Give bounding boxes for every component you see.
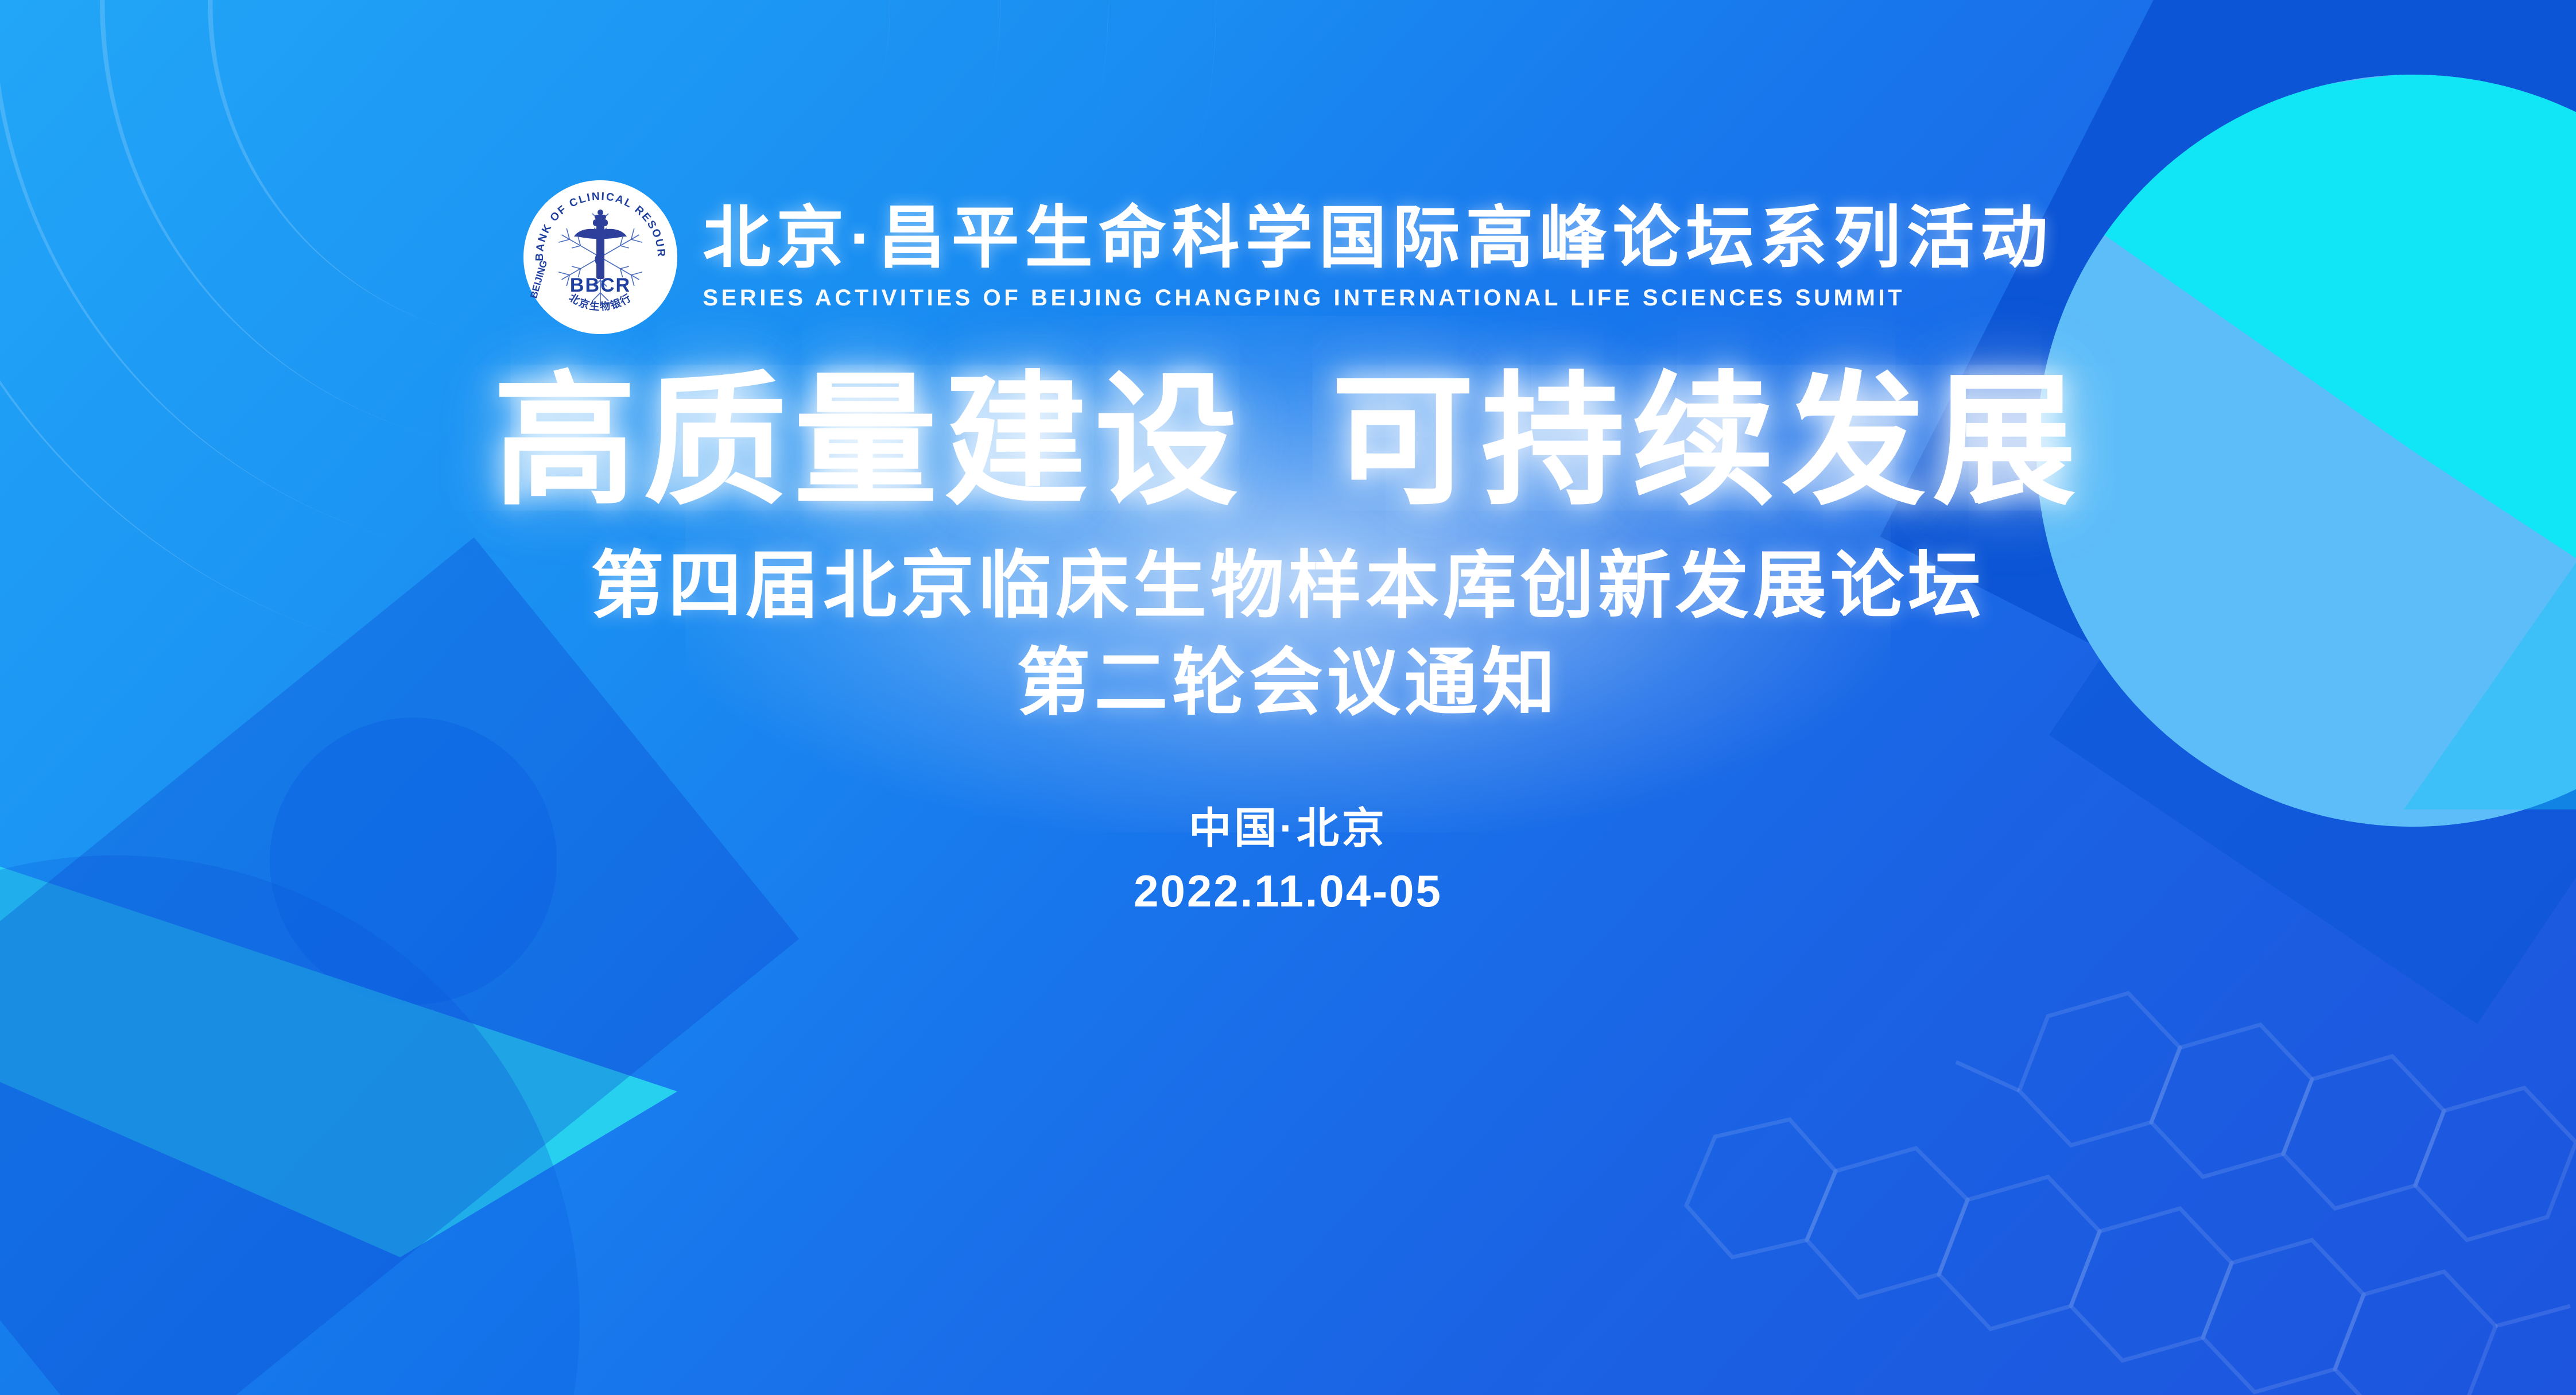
series-title-en: SERIES ACTIVITIES OF BEIJING CHANGPING I… xyxy=(703,284,2053,312)
conference-banner: BIOBANK OF CLINICAL RESOURCES 北京生物银行 BBC… xyxy=(0,0,2576,1395)
event-location: 中国·北京 xyxy=(1189,802,1387,855)
subtitle-line-2: 第二轮会议通知 xyxy=(1017,640,1559,726)
banner-content: BIOBANK OF CLINICAL RESOURCES 北京生物银行 BBC… xyxy=(0,0,2576,1395)
logo-acronym: BBCR xyxy=(570,274,631,296)
banner-header: BIOBANK OF CLINICAL RESOURCES 北京生物银行 BBC… xyxy=(522,179,2053,335)
subtitle-line-1: 第四届北京临床生物样本库创新发展论坛 xyxy=(591,542,1985,629)
series-title-cn: 北京·昌平生命科学国际高峰论坛系列活动 xyxy=(703,203,2053,274)
main-headline: 高质量建设可持续发展 xyxy=(493,365,2083,517)
header-text-block: 北京·昌平生命科学国际高峰论坛系列活动 SERIES ACTIVITIES OF… xyxy=(703,203,2053,311)
event-dates: 2022.11.04-05 xyxy=(1134,865,1442,919)
bbcr-logo: BIOBANK OF CLINICAL RESOURCES 北京生物银行 BBC… xyxy=(522,179,678,335)
banner-footer: 中国·北京 2022.11.04-05 xyxy=(1134,802,1442,918)
headline-part-2: 可持续发展 xyxy=(1331,361,2083,521)
headline-part-1: 高质量建设 xyxy=(493,361,1245,521)
